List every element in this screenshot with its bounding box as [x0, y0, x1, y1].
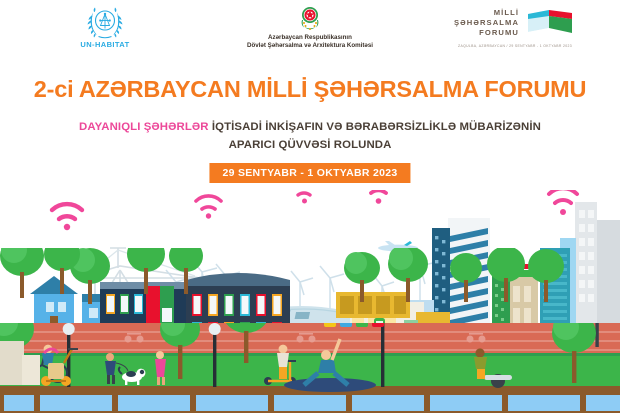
wifi-dot-5 — [560, 209, 566, 215]
page-subtitle: DAYANIQLI ŞƏHƏRLƏR İQTİSADİ İNKİŞAFIN VƏ… — [0, 119, 620, 154]
river-water — [4, 395, 620, 411]
wifi-dot-4 — [376, 198, 382, 204]
subtitle-highlight: DAYANIQLI ŞƏHƏRLƏR — [79, 121, 209, 133]
wifi-dot-1 — [64, 224, 70, 230]
page-title: 2-ci AZƏRBAYCAN MİLLİ ŞƏHƏRSALMA FORUMU — [0, 76, 620, 103]
date-badge: 29 SENTYABR - 1 OKTYABR 2023 — [209, 163, 410, 183]
forum-logo-sub: ZAQULBA, AZƏRBAYCAN / 29 SENTYABR - 1 OK… — [458, 44, 572, 48]
wifi-dot-2 — [206, 213, 211, 218]
azerbaijan-state-emblem-icon — [297, 4, 323, 32]
forum-word-sehersalma: ŞƏHƏRSALMA — [454, 18, 519, 28]
yoga-mat — [284, 378, 376, 392]
logo-un-habitat: UN-HABITAT — [0, 0, 210, 54]
logo-forum: MİLLİ ŞƏHƏRSALMA FORUMU ZAQULBA, AZƏRBAY — [410, 0, 620, 54]
gov-line-1: Azərbaycan Respublikasının — [268, 34, 352, 41]
logo-gov-committee: Azərbaycan Respublikasının Dövlət Şəhərs… — [210, 0, 410, 54]
forum-word-milli: MİLLİ — [454, 8, 519, 18]
gov-line-2: Dövlət Şəhərsalma və Arxitektura Komitəs… — [247, 42, 373, 49]
wifi-dot-3 — [302, 199, 307, 204]
sustainable-city-illustration — [0, 190, 620, 413]
un-habitat-wreath-icon — [82, 5, 128, 39]
forum-poster: UN-HABITAT — [0, 0, 620, 413]
forum-logo-row: MİLLİ ŞƏHƏRSALMA FORUMU — [454, 6, 576, 40]
subtitle-rest: İQTİSADİ İNKİŞAFIN VƏ BƏRABƏRSİZLİKLƏ MÜ… — [209, 121, 541, 133]
subtitle-line-2: APARICI QÜVVƏSİ ROLUNDA — [229, 139, 392, 151]
un-habitat-label: UN-HABITAT — [80, 40, 129, 49]
forum-cube-logo-icon — [524, 6, 576, 40]
gov-committee-label: Azərbaycan Respublikasının Dövlət Şəhərs… — [247, 34, 373, 51]
park-and-waterfront — [0, 323, 620, 413]
header-logo-bar: UN-HABITAT — [0, 0, 620, 54]
forum-logo-words: MİLLİ ŞƏHƏRSALMA FORUMU — [454, 8, 519, 39]
forum-word-forumu: FORUMU — [454, 28, 519, 38]
